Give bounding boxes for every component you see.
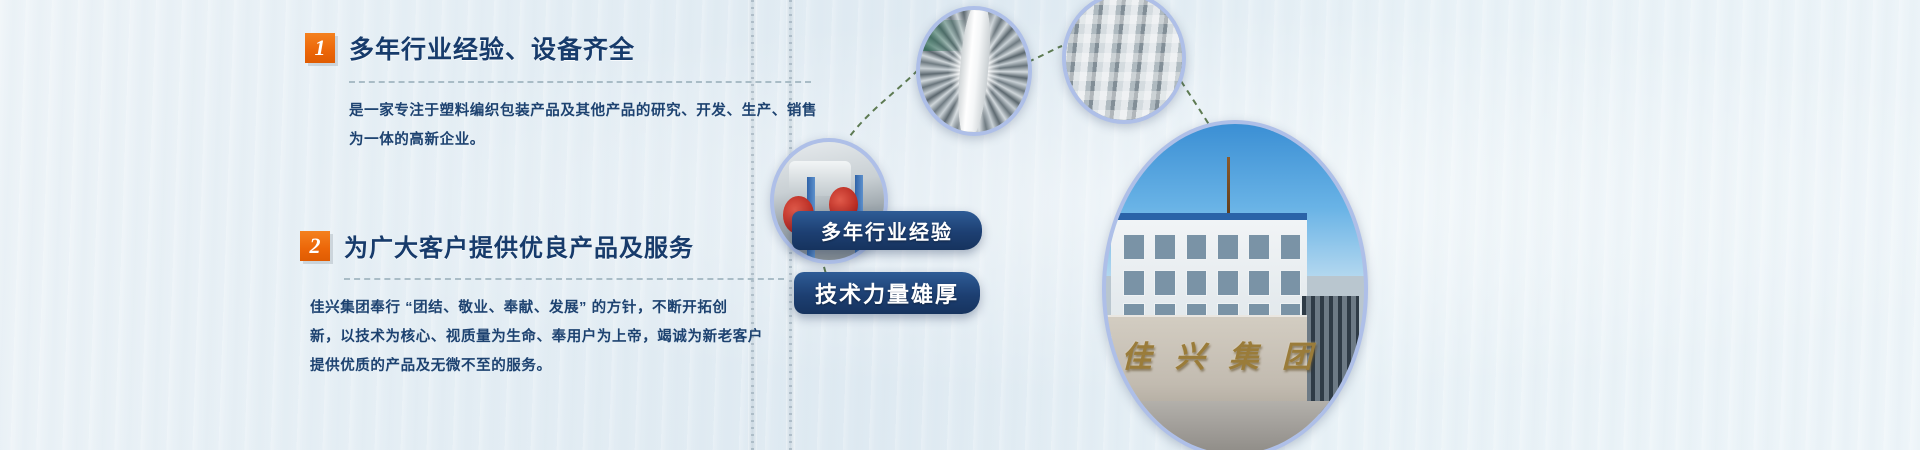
feature-title-2: 为广大客户提供优良产品及服务 xyxy=(344,228,694,263)
text-content: 1 多年行业经验、设备齐全 是一家专注于塑料编织包装产品及其他产品的研究、开发、… xyxy=(0,0,830,450)
feature-body-2: 佳兴集团奉行 “团结、敬业、奉献、发展” 的方针，不断开拓创 新，以技术为核心、… xyxy=(310,294,810,381)
feature-title-1: 多年行业经验、设备齐全 xyxy=(349,30,635,66)
step-number-badge-2: 2 xyxy=(300,231,330,261)
factory-gate-photo: 佳 兴 集 团 xyxy=(1102,120,1368,450)
feature-block-1: 1 多年行业经验、设备齐全 是一家专注于塑料编织包装产品及其他产品的研究、开发、… xyxy=(305,30,815,155)
feature-body-2-line-1: 佳兴集团奉行 “团结、敬业、奉献、发展” 的方针，不断开拓创 xyxy=(310,294,810,323)
feature-heading-2: 2 为广大客户提供优良产品及服务 xyxy=(300,228,815,263)
feature-body-2-line-2: 新，以技术为核心、视质量为生命、奉用户为上帝，竭诚为新老客户 xyxy=(310,323,810,352)
feature-body-1-line-1: 是一家专注于塑料编织包装产品及其他产品的研究、开发、生产、销售 xyxy=(349,97,819,126)
step-number-badge-1: 1 xyxy=(305,33,335,63)
feature-block-2: 2 为广大客户提供优良产品及服务 佳兴集团奉行 “团结、敬业、奉献、发展” 的方… xyxy=(300,228,815,381)
badge-experience: 多年行业经验 xyxy=(792,211,982,250)
feature-body-1-line-2: 为一体的高新企业。 xyxy=(349,126,819,155)
feature-heading-1: 1 多年行业经验、设备齐全 xyxy=(305,30,815,66)
badge-technology: 技术力量雄厚 xyxy=(794,272,980,314)
circular-loom-photo xyxy=(916,6,1032,136)
feature-body-2-line-3: 提供优质的产品及无微不至的服务。 xyxy=(310,352,810,381)
photo-collage: 佳 兴 集 团 多年行业经验 技术力量雄厚 xyxy=(800,0,1920,450)
divider-dashed-2 xyxy=(344,278,784,280)
spool-rack-photo xyxy=(1062,0,1186,124)
divider-dashed-1 xyxy=(349,81,811,83)
promo-banner: 1 多年行业经验、设备齐全 是一家专注于塑料编织包装产品及其他产品的研究、开发、… xyxy=(0,0,1920,450)
feature-body-1: 是一家专注于塑料编织包装产品及其他产品的研究、开发、生产、销售 为一体的高新企业… xyxy=(349,97,819,155)
factory-sign-text: 佳 兴 集 团 xyxy=(1121,332,1312,376)
